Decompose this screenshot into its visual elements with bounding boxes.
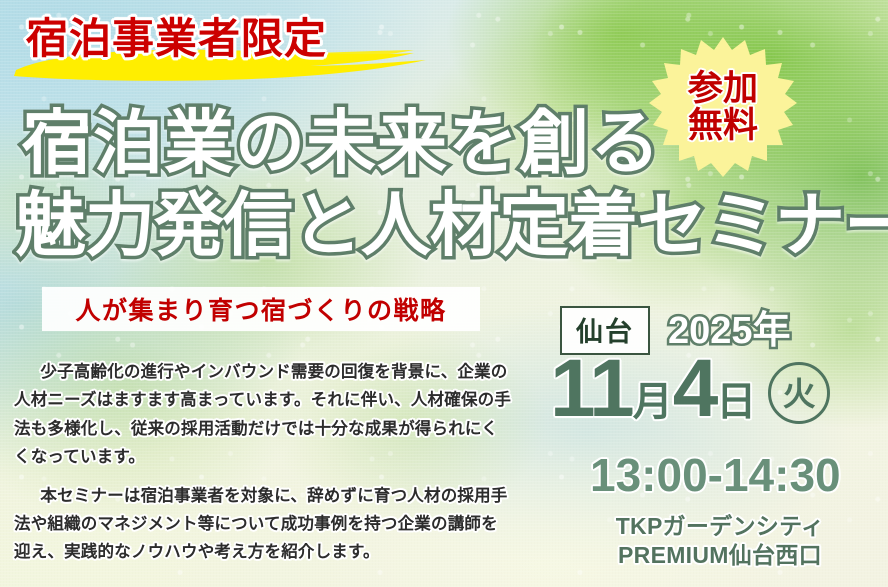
venue-line-2: PREMIUM仙台西口 xyxy=(570,541,870,570)
subtitle-text: 人が集まり育つ宿づくりの戦略 xyxy=(75,291,446,327)
venue-line-1: TKPガーデンシティ xyxy=(570,512,870,541)
main-title: 宿泊業の未来を創る 魅力発信と人材定着セミナー xyxy=(0,108,888,260)
event-weekday-badge: 火 xyxy=(768,362,830,424)
description-paragraph: 少子高齢化の進行やインバウンド需要の回復を背景に、企業の人材ニーズはますます高ま… xyxy=(14,358,514,472)
event-day-unit: 日 xyxy=(716,384,756,427)
description-paragraph: 本セミナーは宿泊事業者を対象に、辞めずに育つ人材の採用手法や組織のマネジメント等… xyxy=(14,482,514,567)
main-title-line-1: 宿泊業の未来を創る xyxy=(22,108,888,178)
audience-ribbon-label: 宿泊事業者限定 xyxy=(26,18,327,60)
badge-line-1: 参加 xyxy=(688,71,758,107)
seminar-flyer: 宿泊事業者限定 参加 無料 宿泊業の未来を創る 魅力発信と人材定着セミナー 人が… xyxy=(0,0,888,587)
event-month-number: 11 xyxy=(550,350,633,427)
subtitle-banner: 人が集まり育つ宿づくりの戦略 xyxy=(42,287,480,331)
event-day-number: 4 xyxy=(673,350,717,427)
event-details: 仙台 2025年 11 月 4 日 火 13:00-14:30 TKPガーデンシ… xyxy=(546,300,888,587)
main-title-line-2: 魅力発信と人材定着セミナー xyxy=(16,190,888,260)
event-venue: TKPガーデンシティ PREMIUM仙台西口 xyxy=(570,512,870,569)
event-weekday-label: 火 xyxy=(783,377,816,410)
event-month-unit: 月 xyxy=(633,384,673,427)
description-block: 少子高齢化の進行やインバウンド需要の回復を背景に、企業の人材ニーズはますます高ま… xyxy=(14,358,514,567)
event-date: 11 月 4 日 火 xyxy=(550,350,830,427)
event-time: 13:00-14:30 xyxy=(590,452,841,498)
audience-ribbon: 宿泊事業者限定 xyxy=(0,6,460,90)
